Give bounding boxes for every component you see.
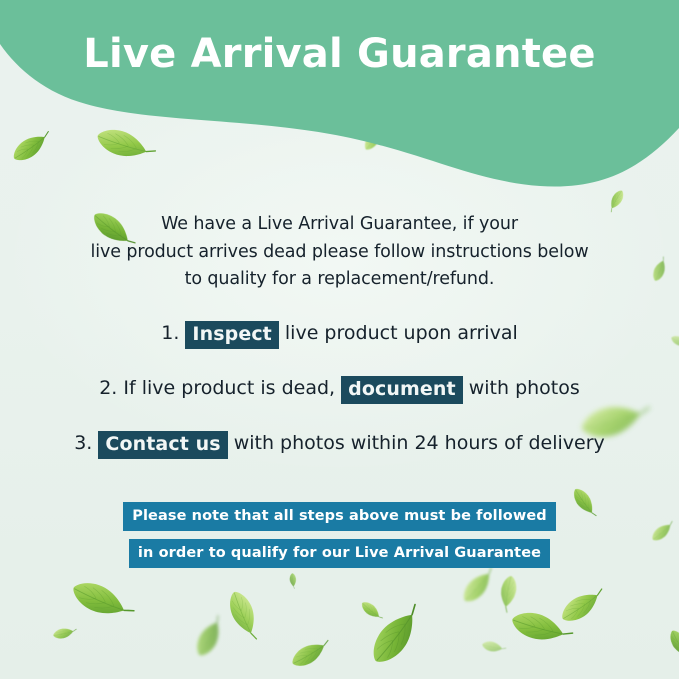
note-bar-line-1: Please note that all steps above must be… (123, 502, 556, 531)
step-text-after-2: with photos (469, 377, 580, 399)
step-text-after-3: with photos within 24 hours of delivery (234, 432, 605, 454)
step-highlight-document: document (341, 376, 463, 404)
note-row-1: Please note that all steps above must be… (0, 502, 679, 531)
note-banner: Please note that all steps above must be… (0, 502, 679, 568)
step-number-2: 2. (99, 377, 117, 399)
intro-line-1: We have a Live Arrival Guarantee, if you… (50, 211, 629, 239)
step-number-3: 3. (74, 432, 92, 454)
step-item-1: 1. Inspect live product upon arrival (20, 318, 659, 348)
step-item-2: 2. If live product is dead, document wit… (20, 373, 659, 403)
step-highlight-inspect: Inspect (185, 321, 278, 349)
step-number-1: 1. (161, 322, 179, 344)
steps-list: 1. Inspect live product upon arrival 2. … (20, 318, 659, 458)
intro-line-2: live product arrives dead please follow … (50, 239, 629, 267)
step-item-3: 3. Contact us with photos within 24 hour… (20, 428, 659, 458)
note-row-2: in order to qualify for our Live Arrival… (0, 539, 679, 568)
step-text-before-2: If live product is dead, (123, 377, 335, 399)
step-text-after-1: live product upon arrival (285, 322, 518, 344)
live-arrival-guarantee-poster: Live Arrival Guarantee (0, 0, 679, 679)
step-highlight-contact-us: Contact us (98, 431, 227, 459)
content-area: We have a Live Arrival Guarantee, if you… (0, 0, 679, 679)
intro-paragraph: We have a Live Arrival Guarantee, if you… (50, 211, 629, 294)
intro-line-3: to quality for a replacement/refund. (50, 266, 629, 294)
note-bar-line-2: in order to qualify for our Live Arrival… (129, 539, 550, 568)
